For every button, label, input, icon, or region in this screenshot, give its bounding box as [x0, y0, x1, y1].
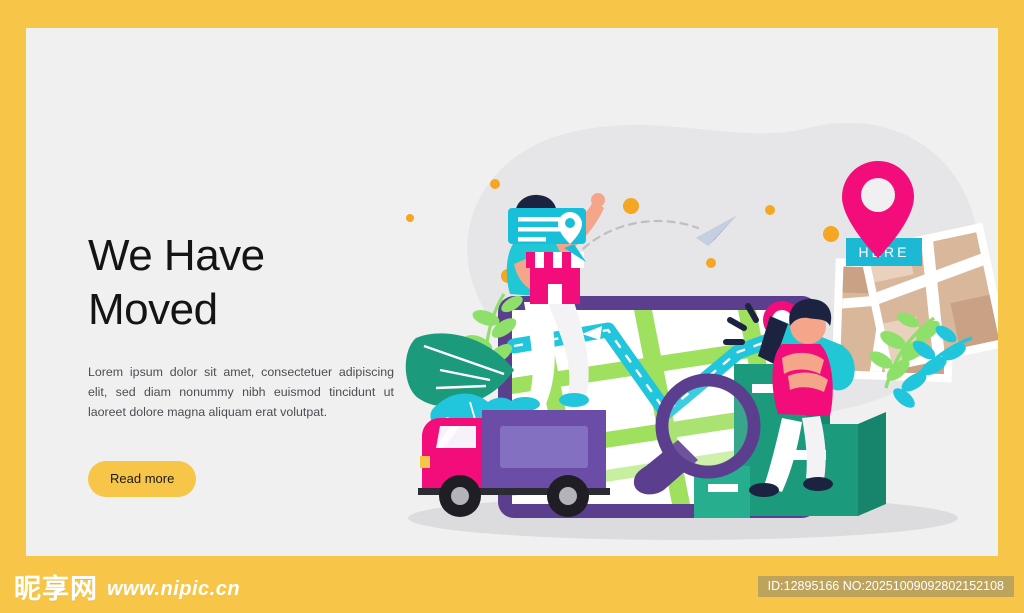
shoe — [559, 393, 589, 407]
orange-dot — [623, 198, 639, 214]
hero-paragraph: Lorem ipsum dolor sit amet, consectetuer… — [88, 362, 394, 422]
shoe — [749, 483, 779, 497]
illustration-canvas: We Have Moved Lorem ipsum dolor sit amet… — [26, 28, 998, 556]
orange-dot — [406, 214, 414, 222]
headline-line-2: Moved — [88, 288, 408, 332]
truck-headlight — [420, 456, 430, 468]
read-more-button[interactable]: Read more — [88, 461, 196, 497]
truck-wheel — [547, 475, 589, 517]
asset-id-watermark: ID:12895166 NO:20251009092802152108 — [758, 576, 1014, 597]
headline-line-1: We Have — [88, 231, 265, 280]
shoe — [803, 477, 833, 491]
truck-wheel — [439, 475, 481, 517]
orange-dot — [706, 258, 716, 268]
shop-icon — [526, 252, 584, 304]
truck-cargo-panel — [500, 426, 588, 468]
orange-dot — [823, 226, 839, 242]
orange-dot — [490, 179, 500, 189]
hero-copy: We Have Moved Lorem ipsum dolor sit amet… — [88, 205, 408, 497]
orange-dot — [765, 205, 775, 215]
page-title: We Have Moved — [88, 234, 408, 332]
watermark-bar: 昵享网 www.nipic.cn ID:12895166 NO:20251009… — [0, 556, 1024, 613]
site-logo-cn: 昵享网 — [14, 576, 98, 603]
box-front — [750, 424, 858, 516]
relocation-illustration: HERE — [378, 88, 998, 556]
screenshot-root: We Have Moved Lorem ipsum dolor sit amet… — [0, 0, 1024, 613]
site-logo[interactable]: 昵享网 www.nipic.cn — [14, 576, 240, 603]
site-logo-url: www.nipic.cn — [107, 578, 240, 603]
